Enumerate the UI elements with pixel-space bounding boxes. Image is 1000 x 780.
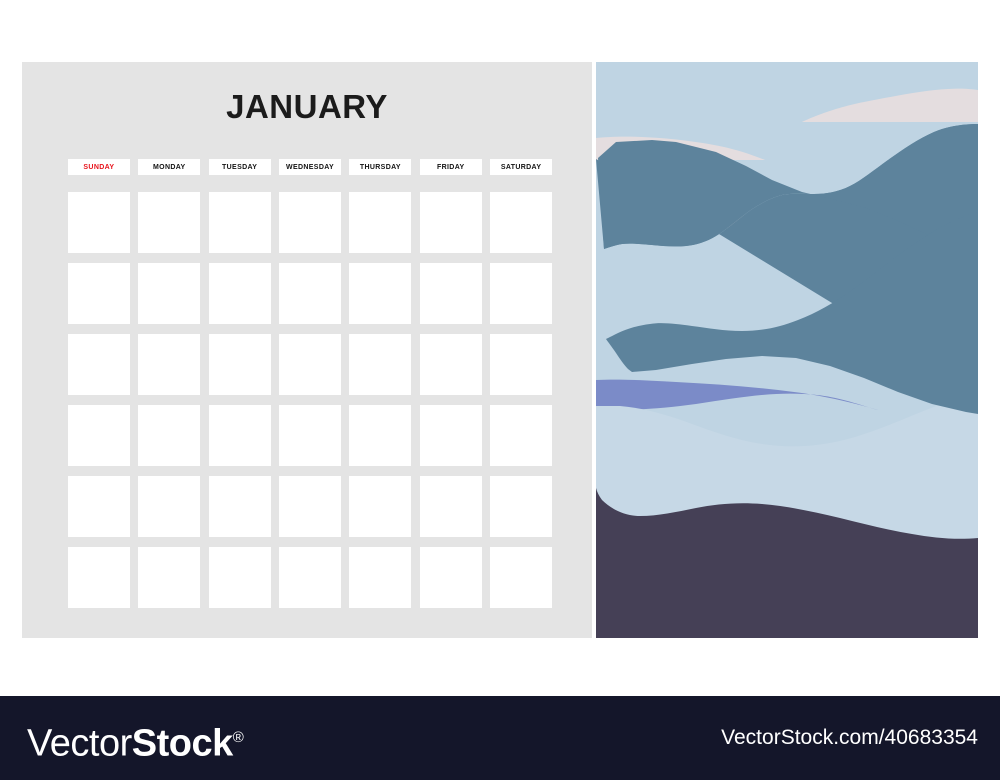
weekday-label: TUESDAY	[222, 164, 257, 171]
day-cell[interactable]	[420, 192, 482, 253]
day-cell[interactable]	[279, 405, 341, 466]
day-cell[interactable]	[279, 547, 341, 608]
day-cell[interactable]	[138, 334, 200, 395]
day-cell[interactable]	[490, 476, 552, 537]
day-cell[interactable]	[68, 192, 130, 253]
day-cell[interactable]	[138, 547, 200, 608]
day-cell[interactable]	[209, 263, 271, 324]
day-cell[interactable]	[68, 547, 130, 608]
weekday-label: WEDNESDAY	[286, 164, 334, 171]
day-cell[interactable]	[209, 547, 271, 608]
day-cell[interactable]	[490, 334, 552, 395]
day-cell[interactable]	[209, 405, 271, 466]
day-cell[interactable]	[420, 547, 482, 608]
day-cell[interactable]	[349, 192, 411, 253]
day-cell[interactable]	[68, 334, 130, 395]
day-cell[interactable]	[349, 476, 411, 537]
day-cell[interactable]	[420, 334, 482, 395]
weekday-header-monday: MONDAY	[138, 159, 200, 175]
day-cell[interactable]	[420, 263, 482, 324]
day-cell[interactable]	[68, 476, 130, 537]
brand-name-light: Vector	[27, 723, 132, 765]
day-cell[interactable]	[349, 263, 411, 324]
day-cell[interactable]	[279, 476, 341, 537]
weekday-label: SATURDAY	[501, 164, 542, 171]
day-cell[interactable]	[138, 476, 200, 537]
day-cell[interactable]	[138, 405, 200, 466]
day-cell[interactable]	[138, 192, 200, 253]
watermark-footer-bar: VectorStock® VectorStock.com/40683354	[0, 696, 1000, 780]
day-cell[interactable]	[349, 547, 411, 608]
weekday-label: SUNDAY	[83, 164, 114, 171]
day-cell[interactable]	[279, 334, 341, 395]
day-cell[interactable]	[490, 547, 552, 608]
page-title: JANUARY	[22, 88, 592, 126]
day-cell[interactable]	[490, 263, 552, 324]
weekday-label: FRIDAY	[437, 164, 465, 171]
brand-name-bold: Stock	[132, 723, 233, 765]
day-cell[interactable]	[349, 405, 411, 466]
day-cell[interactable]	[68, 263, 130, 324]
weekday-header-row: SUNDAY MONDAY TUESDAY WEDNESDAY THURSDAY…	[68, 159, 552, 175]
day-cell[interactable]	[279, 192, 341, 253]
day-cell[interactable]	[138, 263, 200, 324]
day-cell[interactable]	[490, 405, 552, 466]
day-cell[interactable]	[490, 192, 552, 253]
vectorstock-logo: VectorStock®	[27, 714, 243, 768]
day-cell[interactable]	[279, 263, 341, 324]
registered-trademark-icon: ®	[233, 729, 244, 746]
illustration-panel	[596, 62, 978, 638]
day-cell[interactable]	[349, 334, 411, 395]
weekday-header-saturday: SATURDAY	[490, 159, 552, 175]
screenshot-stage: JANUARY SUNDAY MONDAY TUESDAY WEDNESDAY …	[0, 0, 1000, 780]
day-cell[interactable]	[209, 192, 271, 253]
mountain-landscape-illustration	[596, 62, 978, 638]
calendar-panel: JANUARY SUNDAY MONDAY TUESDAY WEDNESDAY …	[22, 62, 592, 638]
weekday-label: MONDAY	[153, 164, 186, 171]
weekday-label: THURSDAY	[360, 164, 401, 171]
day-cell[interactable]	[420, 476, 482, 537]
day-cell[interactable]	[420, 405, 482, 466]
day-cell-grid	[68, 192, 552, 608]
weekday-header-tuesday: TUESDAY	[209, 159, 271, 175]
weekday-header-friday: FRIDAY	[420, 159, 482, 175]
day-cell[interactable]	[209, 476, 271, 537]
day-cell[interactable]	[68, 405, 130, 466]
weekday-header-thursday: THURSDAY	[349, 159, 411, 175]
day-cell[interactable]	[209, 334, 271, 395]
watermark-url: VectorStock.com/40683354	[721, 726, 978, 750]
weekday-header-sunday: SUNDAY	[68, 159, 130, 175]
weekday-header-wednesday: WEDNESDAY	[279, 159, 341, 175]
